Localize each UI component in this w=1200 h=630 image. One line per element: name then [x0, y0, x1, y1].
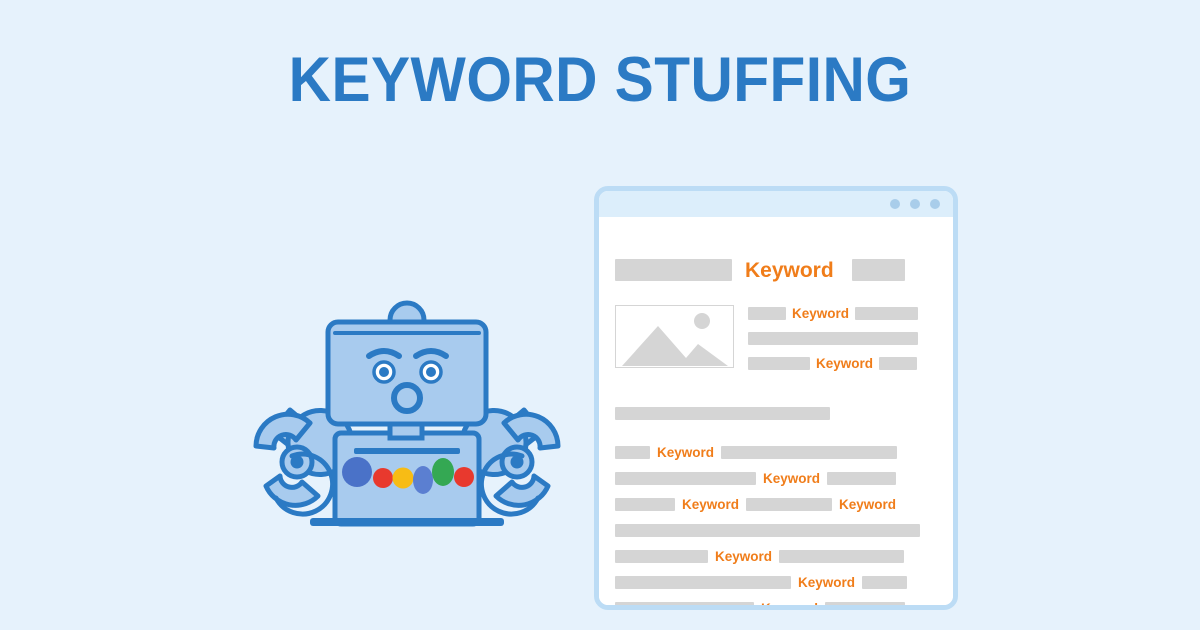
mountain-icon: [622, 326, 728, 366]
media-row-2: [748, 330, 951, 343]
keyword-label: Keyword: [792, 307, 849, 321]
keyword-label: Keyword: [816, 357, 873, 371]
bar: [615, 524, 920, 537]
media-row-1: Keyword: [748, 305, 951, 318]
poster-canvas: KEYWORD STUFFING: [0, 0, 1200, 630]
bar: [615, 602, 754, 610]
dot-blue-oval: [413, 466, 433, 494]
bar: [615, 407, 830, 420]
keyword-label-b: Keyword: [839, 498, 896, 512]
keyword-heading: Keyword: [745, 260, 834, 281]
bar: [825, 602, 905, 610]
bar: [615, 576, 791, 589]
media-text-rows: Keyword Keyword: [748, 305, 951, 368]
heading-placeholder-bar-2: [852, 259, 905, 281]
keyword-label: Keyword: [761, 602, 818, 610]
window-dot-2-icon[interactable]: [910, 199, 920, 209]
dot-blue-large: [342, 457, 372, 487]
bar: [748, 357, 810, 370]
bar: [615, 550, 708, 563]
bar: [615, 498, 675, 511]
bar: [748, 307, 786, 320]
bar: [855, 307, 918, 320]
browser-titlebar: [599, 191, 953, 217]
bar: [879, 357, 917, 370]
bar: [862, 576, 907, 589]
keyword-label: Keyword: [798, 576, 855, 590]
body-row-3: Keyword: [615, 472, 951, 485]
heading-placeholder-bar-1: [615, 259, 732, 281]
bar: [827, 472, 896, 485]
keyword-label-a: Keyword: [682, 498, 739, 512]
browser-window: Keyword Keyword: [594, 186, 958, 610]
dot-yellow: [393, 468, 414, 489]
window-dot-1-icon[interactable]: [890, 199, 900, 209]
media-row-3: Keyword: [748, 355, 951, 368]
window-control-dots: [890, 199, 940, 209]
googlebot-robot-illustration: [240, 300, 574, 540]
bar: [779, 550, 904, 563]
page-title: KEYWORD STUFFING: [42, 44, 1158, 116]
body-row-7: Keyword: [615, 576, 951, 589]
body-text-rows: Keyword Keyword KeywordKeyword Keyword K…: [615, 407, 951, 610]
mouth: [394, 385, 420, 411]
body-row-6: Keyword: [615, 550, 951, 563]
sun-icon: [694, 313, 710, 329]
body-row-2: Keyword: [615, 446, 951, 459]
body-row-4: KeywordKeyword: [615, 498, 951, 511]
bar: [615, 472, 756, 485]
dot-red-2: [454, 467, 474, 487]
body-row-5: [615, 524, 951, 537]
bar: [748, 332, 918, 345]
keyword-label: Keyword: [657, 446, 714, 460]
body-row-8: Keyword: [615, 602, 951, 610]
window-dot-3-icon[interactable]: [930, 199, 940, 209]
media-block: Keyword Keyword: [615, 305, 951, 373]
body-row-1: [615, 407, 951, 420]
content-heading-row: Keyword: [615, 259, 949, 283]
dot-red-1: [373, 468, 393, 488]
page-content: Keyword Keyword: [599, 217, 953, 605]
bar: [746, 498, 832, 511]
bar: [615, 446, 650, 459]
bar: [721, 446, 897, 459]
dot-green: [432, 458, 454, 486]
keyword-label: Keyword: [715, 550, 772, 564]
image-placeholder: [615, 305, 734, 368]
keyword-label: Keyword: [763, 472, 820, 486]
